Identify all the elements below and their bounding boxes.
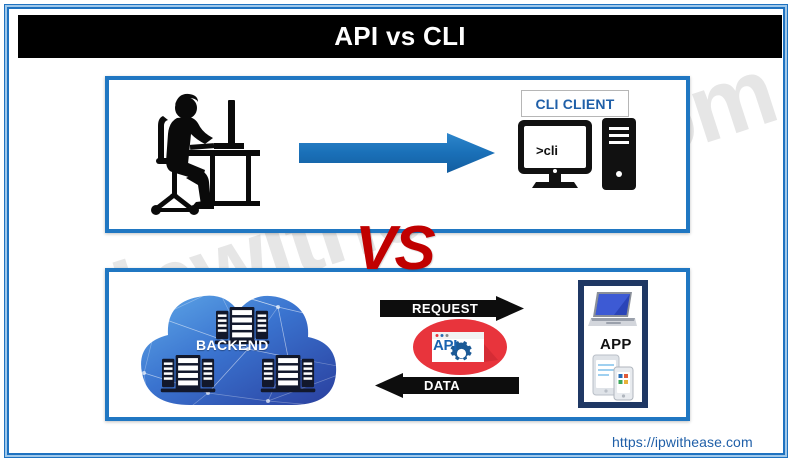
diagram-canvas: ipwithease.com API vs CLI xyxy=(0,0,800,470)
mobile-devices-group xyxy=(593,355,635,401)
footer-url[interactable]: https://ipwithease.com xyxy=(612,434,753,450)
person-at-desk-icon xyxy=(150,88,280,223)
api-gear-icon xyxy=(412,318,508,376)
cli-client-label: CLI CLIENT xyxy=(521,90,629,117)
data-arrow-label: DATA xyxy=(424,378,460,393)
phone-icon xyxy=(614,367,633,400)
laptop-icon xyxy=(588,290,638,332)
app-label: APP xyxy=(600,336,632,353)
server-rack-icon xyxy=(161,355,216,392)
backend-label: BACKEND xyxy=(196,337,269,353)
right-arrow-icon xyxy=(297,131,497,175)
cli-terminal-prompt: >cli xyxy=(536,143,558,158)
versus-label: VS xyxy=(355,218,434,280)
api-badge-label: API xyxy=(433,337,457,354)
server-rack-icon xyxy=(261,355,316,392)
request-arrow-label: REQUEST xyxy=(412,301,478,316)
cli-devices-group xyxy=(516,118,642,198)
page-title: API vs CLI xyxy=(18,15,782,58)
